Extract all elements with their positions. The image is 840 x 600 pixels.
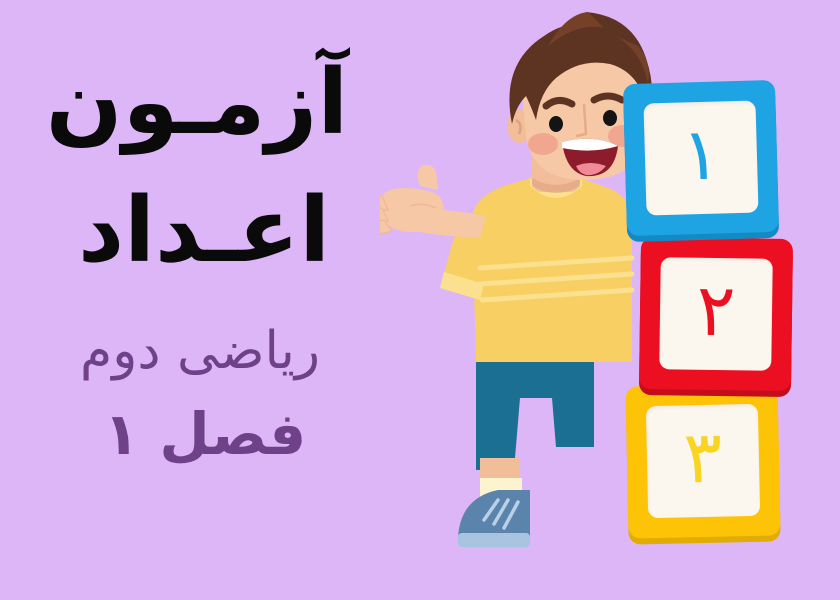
shirt-body (440, 178, 632, 362)
page-title-line-1: آزمـون (0, 58, 420, 148)
block-three-face: ۳ (646, 404, 760, 518)
sneaker-shoe (458, 490, 530, 547)
subtitle-subject: ریاضی دوم (0, 325, 420, 377)
number-block-two[interactable]: ۲ (639, 237, 793, 391)
block-two-face: ۲ (659, 257, 773, 371)
waving-arm (380, 165, 486, 238)
page-title-line-2: اعـداد (0, 186, 420, 276)
poster-canvas: آزمـون اعـداد ریاضی دوم فصل ۱ (0, 0, 840, 600)
block-two-numeral: ۲ (696, 274, 736, 347)
shorts-shape (476, 355, 594, 470)
subtitle-chapter: فصل ۱ (0, 405, 420, 463)
block-three-numeral: ۳ (683, 421, 723, 494)
block-one-numeral: ۱ (681, 117, 722, 190)
text-column: آزمـون اعـداد ریاضی دوم فصل ۱ (0, 0, 420, 600)
block-one-face: ۱ (643, 100, 758, 215)
number-block-three[interactable]: ۳ (625, 383, 780, 538)
number-block-one[interactable]: ۱ (623, 80, 779, 236)
